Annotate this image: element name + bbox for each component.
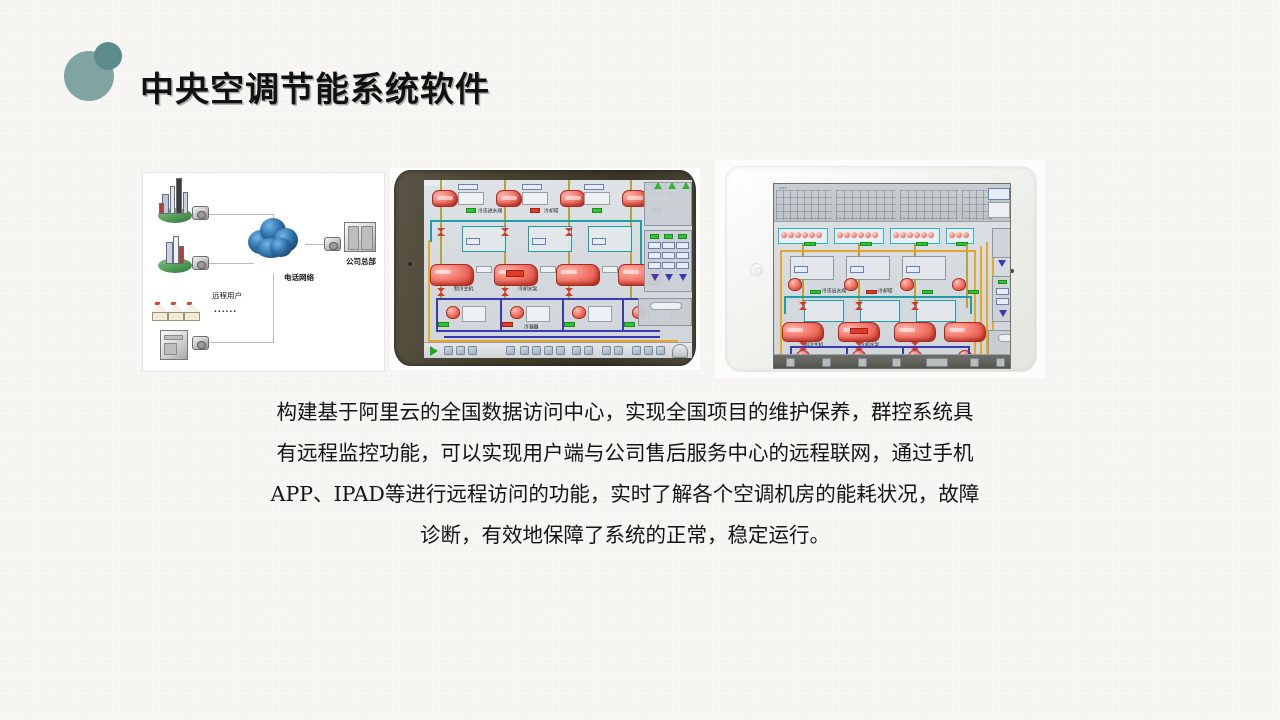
site1-building-e-icon (159, 203, 164, 214)
gear-icon-1[interactable] (520, 346, 529, 355)
label-cooling-water-pump: 冷却水泵 (518, 286, 537, 293)
ipad-home-button[interactable] (750, 263, 763, 276)
site2-router-icon (192, 256, 209, 270)
layers-icon[interactable] (506, 346, 515, 355)
gear-icon-3[interactable] (544, 346, 553, 355)
graph-icon[interactable] (632, 346, 641, 355)
scada-brand-logo: ···· (779, 186, 787, 192)
label-telephone-network: 电话网络 (284, 272, 314, 283)
branch-icon[interactable] (444, 346, 453, 355)
gear-icon-ipad[interactable] (970, 358, 979, 367)
site1-router-icon (192, 206, 209, 220)
note-icon[interactable] (456, 346, 465, 355)
house-icon-3 (182, 302, 202, 321)
label-company-hq: 公司总部 (346, 256, 376, 267)
scada-diagram: 冷冻进水阀 冷却塔 (424, 180, 692, 358)
chart-icon[interactable] (468, 346, 477, 355)
label-chilled-pump-ipad: 冷冻出水阀 (822, 288, 846, 295)
globe-icon[interactable] (572, 346, 581, 355)
telephone-network-cloud-icon (246, 214, 301, 260)
site1-building-d-icon (183, 192, 188, 214)
phone-icon[interactable] (858, 358, 867, 367)
ipad-scada-screen[interactable]: ···· (773, 183, 1011, 369)
label-chilled-inlet: 冷冻进水阀 (478, 208, 502, 215)
figure-android-tablet: 冷冻进水阀 冷却塔 (390, 168, 700, 370)
list-icon[interactable] (822, 358, 831, 367)
scada-diagram-ipad: ···· (774, 184, 1010, 368)
wrench-icon[interactable] (892, 358, 901, 367)
company-hq-server-icon (344, 222, 376, 252)
caption-line-4: 诊断，有效地保障了系统的正常，稳定运行。 (205, 515, 1045, 556)
link-room-to-cloud (206, 342, 274, 343)
figure-white-ipad: ···· (715, 160, 1045, 378)
exit-icon[interactable] (614, 346, 623, 355)
play-icon[interactable] (430, 346, 438, 356)
site1-building-b-icon (170, 186, 175, 214)
home-dome-icon[interactable] (672, 344, 688, 358)
figure-network-topology: 电话网络 公司总部 远程用户 ······ (142, 172, 385, 372)
label-cooling-tower-ipad: 冷却塔 (878, 288, 893, 295)
label-remote-users: 远程用户 (212, 290, 242, 301)
report-icon[interactable] (644, 346, 653, 355)
label-ellipsis: ······ (214, 307, 237, 316)
user-icon[interactable] (584, 346, 593, 355)
android-device-bezel: 冷冻进水阀 冷却塔 (394, 170, 696, 366)
back-icon[interactable] (996, 358, 1005, 367)
figure-strip: 电话网络 公司总部 远程用户 ······ (0, 150, 1280, 385)
caption-line-1: 构建基于阿里云的全国数据访问中心，实现全国项目的维护保养，群控系统具 (205, 392, 1045, 433)
site2-building-a-icon (166, 242, 173, 264)
close-icon[interactable] (786, 358, 795, 367)
site1-building-c-icon (176, 178, 182, 214)
logo-small-circle-icon (94, 42, 122, 70)
gear-icon-2[interactable] (532, 346, 541, 355)
slide-caption: 构建基于阿里云的全国数据访问中心，实现全国项目的维护保养，群控系统具 有远程监控… (205, 392, 1045, 556)
network-diagram-canvas: 电话网络 公司总部 远程用户 ······ (142, 172, 385, 372)
logout-icon[interactable] (602, 346, 611, 355)
gear-icon-4[interactable] (556, 346, 565, 355)
link-site2-to-cloud (206, 263, 254, 264)
hq-router-icon (324, 237, 341, 251)
android-camera-icon (408, 262, 412, 266)
equipment-room-icon (160, 330, 188, 360)
caption-line-3: APP、IPAD等进行远程访问的功能，实时了解各个空调机房的能耗状况，故障 (205, 474, 1045, 515)
link-cloud-to-room (273, 274, 274, 342)
scada-toolbar[interactable] (424, 342, 692, 358)
page-title: 中央空调节能系统软件 (140, 62, 490, 111)
ipad-device-bezel: ···· (725, 166, 1037, 372)
double-circle-logo (64, 42, 126, 104)
equipment-room-router-icon (192, 336, 209, 350)
android-scada-screen[interactable]: 冷冻进水阀 冷却塔 (424, 180, 692, 358)
slide-header: 中央空调节能系统软件 (0, 0, 1280, 140)
caption-line-2: 有远程监控功能，可以实现用户端与公司售后服务中心的远程联网，通过手机 (205, 433, 1045, 474)
label-main-chiller: 制冷主机 (454, 286, 473, 293)
keyboard-icon[interactable] (926, 358, 948, 367)
label-cooling-tower: 冷却塔 (544, 208, 559, 215)
site2-building-c-icon (179, 246, 184, 264)
alarm-icon[interactable] (656, 346, 665, 355)
scada-toolbar-ipad[interactable] (774, 354, 1010, 368)
